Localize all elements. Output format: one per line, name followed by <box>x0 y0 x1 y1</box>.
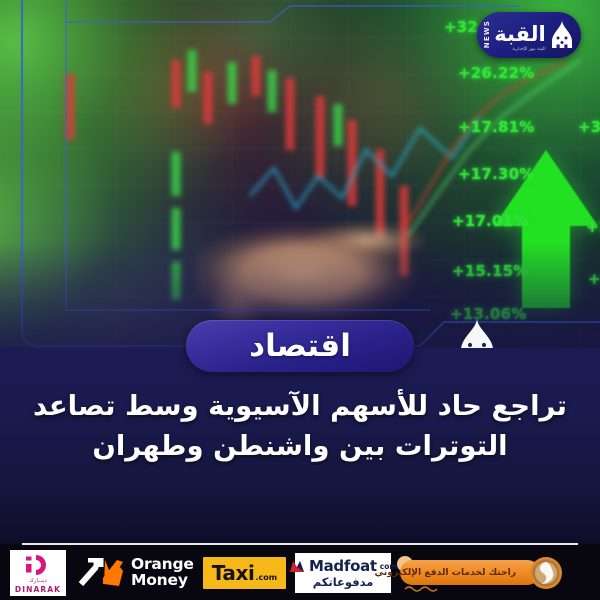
efawateer-squiggle-icon <box>404 585 438 592</box>
sponsor-logo-list: دينــارك DINARAK Orange Money Taxi .com <box>0 546 600 600</box>
logo-tagline: القبة نيوز الإخبارية <box>477 47 581 52</box>
madfoat-wordmark: Madfoat <box>309 557 377 575</box>
headline: تراجع حاد للأسهم الآسيوية وسط تصاعد التو… <box>18 386 582 466</box>
dinarak-arabic: دينــارك <box>29 578 47 584</box>
orange-money-arrows-icon <box>79 558 125 588</box>
efawateer-slogan-pill: راحتك لخدمات الدفع الإلكتروني <box>400 560 540 585</box>
article-photo: +32+26.22%+17.81%+31+17.30%+17.01%+1+15.… <box>0 0 600 372</box>
logo-arabic-name: القبة <box>494 24 546 45</box>
sponsor-orange-money[interactable]: Orange Money <box>75 557 194 589</box>
category-badge[interactable]: اقتصاد <box>186 320 414 372</box>
headline-line-1: تراجع حاد للأسهم الآسيوية وسط تصاعد <box>18 386 582 426</box>
sponsor-divider <box>22 543 578 545</box>
headline-line-2: التوترات بين واشنطن وطهران <box>18 426 582 466</box>
madfoat-logo-icon <box>289 560 306 573</box>
dinarak-name: DINARAK <box>15 585 61 594</box>
orange-money-wordmark: Orange Money <box>131 557 194 589</box>
dome-icon <box>549 19 575 49</box>
taxi-domain: .com <box>255 573 277 582</box>
taxi-wordmark: Taxi <box>212 561 255 585</box>
orange-money-line2: Money <box>131 573 194 589</box>
madfoat-arabic: مدفوعاتكم <box>313 575 374 589</box>
sponsor-efawateercom[interactable]: راحتك لخدمات الدفع الإلكتروني <box>400 556 563 590</box>
sponsor-dinarak[interactable]: دينــارك DINARAK <box>10 550 66 596</box>
news-card: +32+26.22%+17.81%+31+17.30%+17.01%+1+15.… <box>0 0 600 600</box>
sponsor-taxi-com[interactable]: Taxi .com <box>203 557 286 589</box>
dinarak-logo-icon <box>23 553 53 577</box>
efawateer-globe-icon <box>529 556 563 590</box>
efawateer-slogan: راحتك لخدمات الدفع الإلكتروني <box>374 567 516 578</box>
channel-logo[interactable]: NEWS القبة القبة نيوز الإخبارية <box>477 12 581 58</box>
category-label: اقتصاد <box>249 328 351 364</box>
logo-news-label: NEWS <box>483 20 491 48</box>
